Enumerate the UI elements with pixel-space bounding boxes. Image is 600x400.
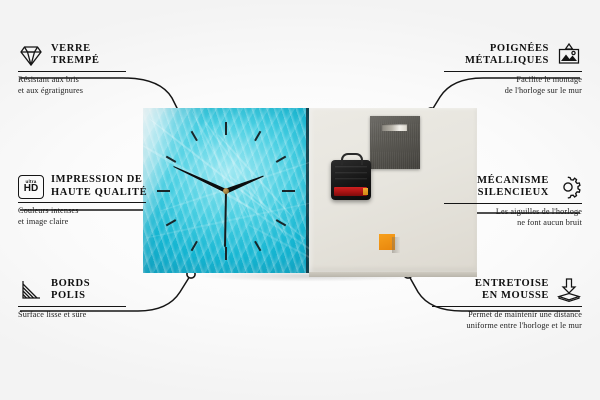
callout-desc-line1: Les aiguilles de l'horloge bbox=[496, 207, 582, 216]
foam-spacer-arrow-icon bbox=[556, 277, 582, 303]
callout-rule bbox=[18, 71, 126, 72]
callout-desc-line2: uniforme entre l'horloge et le mur bbox=[467, 321, 582, 330]
callout-desc-line2: ne font aucun bruit bbox=[517, 218, 582, 227]
callout-rule bbox=[444, 203, 582, 204]
callout-title-line1: VERRE bbox=[51, 43, 91, 54]
callout-desc-line1: Surface lisse et sûre bbox=[18, 310, 86, 319]
callout-bords-polis: BORDS POLIS Surface lisse et sûre bbox=[18, 277, 158, 321]
callout-desc-line2: et image claire bbox=[18, 217, 68, 226]
picture-frame-hanger-icon bbox=[556, 42, 582, 68]
callout-title-line1: POIGNÉES bbox=[490, 43, 549, 54]
metal-hanger-plate bbox=[370, 116, 420, 169]
callout-desc-line2: et aux égratignures bbox=[18, 86, 83, 95]
callout-title-line2: HAUTE QUALITÉ bbox=[51, 187, 147, 198]
callout-mecanisme-silencieux: MÉCANISME SILENCIEUX Les aiguilles de l'… bbox=[442, 174, 582, 228]
mechanism-hanging-loop bbox=[341, 153, 363, 165]
quartz-clock-mechanism bbox=[331, 160, 371, 200]
callout-title-line2: EN MOUSSE bbox=[482, 290, 549, 301]
callout-rule bbox=[18, 306, 126, 307]
ultra-hd-big-text: HD bbox=[24, 184, 38, 194]
callout-title-line1: MÉCANISME bbox=[477, 175, 549, 186]
callout-impression-haute-qualite: ultra HD IMPRESSION DE HAUTE QUALITÉ Cou… bbox=[18, 174, 168, 227]
infographic-canvas: VERRE TREMPÉ Résistant aux bris et aux é… bbox=[0, 0, 600, 400]
clock-center-cap bbox=[223, 188, 229, 194]
foam-spacer bbox=[379, 234, 395, 250]
ultra-hd-icon: ultra HD bbox=[18, 175, 44, 199]
callout-desc-line1: Permet de maintenir une distance bbox=[468, 310, 582, 319]
aa-battery bbox=[334, 187, 367, 196]
mechanism-housing-detail bbox=[335, 166, 367, 184]
callout-title-line1: IMPRESSION DE bbox=[51, 174, 143, 185]
clock-hour-hand bbox=[225, 173, 264, 193]
callout-desc-line1: Facilite le montage bbox=[516, 75, 582, 84]
clock-minute-hand bbox=[173, 164, 227, 192]
diamond-icon bbox=[18, 42, 44, 68]
callout-entretoise-en-mousse: ENTRETOISE EN MOUSSE Permet de maintenir… bbox=[430, 277, 582, 331]
polished-edge-icon bbox=[18, 277, 44, 303]
product-clock bbox=[143, 108, 477, 273]
gear-icon bbox=[556, 174, 582, 200]
hanger-slot bbox=[382, 124, 407, 131]
callout-title-line2: TREMPÉ bbox=[51, 55, 100, 66]
callout-title-line1: BORDS bbox=[51, 278, 90, 289]
callout-desc-line2: de l'horloge sur le mur bbox=[505, 86, 582, 95]
callout-title-line2: SILENCIEUX bbox=[478, 187, 549, 198]
callout-desc-line1: Couleurs intenses bbox=[18, 206, 79, 215]
clock-second-hand bbox=[224, 190, 227, 246]
callout-poignees-metalliques: POIGNÉES MÉTALLIQUES Facilite le montage… bbox=[442, 42, 582, 96]
callout-rule bbox=[18, 202, 146, 203]
callout-rule bbox=[432, 306, 582, 307]
callout-title-line2: POLIS bbox=[51, 290, 86, 301]
callout-title-line2: MÉTALLIQUES bbox=[465, 55, 549, 66]
callout-desc-line1: Résistant aux bris bbox=[18, 75, 79, 84]
callout-rule bbox=[444, 71, 582, 72]
callout-title-line1: ENTRETOISE bbox=[475, 278, 549, 289]
callout-verre-trempe: VERRE TREMPÉ Résistant aux bris et aux é… bbox=[18, 42, 158, 96]
